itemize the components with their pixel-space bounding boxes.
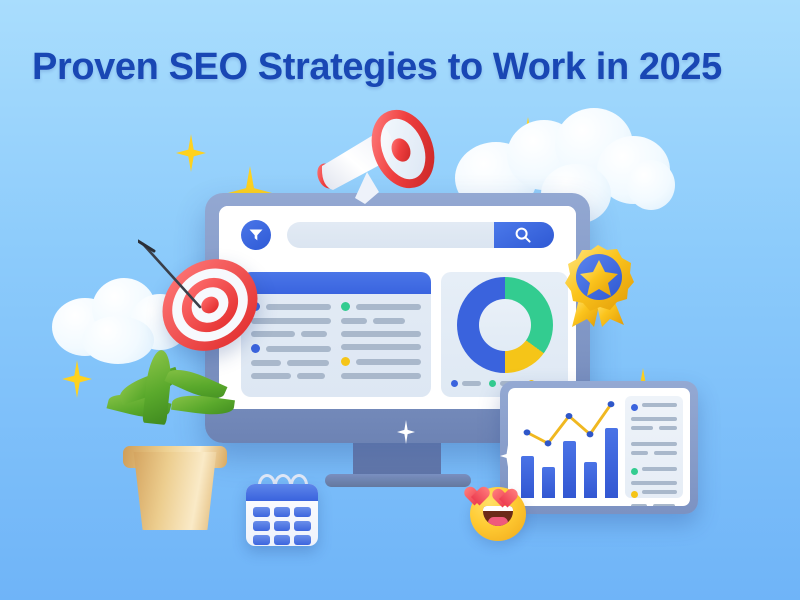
bullet-dot-icon xyxy=(631,491,638,498)
calendar-icon xyxy=(240,474,318,546)
list-column-left xyxy=(251,302,331,386)
illustration-canvas: Proven SEO Strategies to Work in 2025 xyxy=(0,0,800,600)
tablet-side-list xyxy=(625,396,683,498)
list-item xyxy=(631,490,677,499)
placeholder-line xyxy=(631,442,677,446)
placeholder-line xyxy=(631,426,653,430)
legend-dot-icon xyxy=(451,380,458,387)
megaphone-icon xyxy=(305,100,440,215)
placeholder-line-pair xyxy=(631,451,677,460)
placeholder-line xyxy=(653,504,675,506)
emoji-teeth xyxy=(483,506,513,511)
placeholder-line xyxy=(356,359,421,365)
calendar-day-cell xyxy=(253,521,270,531)
calendar-day-cell xyxy=(253,535,270,545)
placeholder-line xyxy=(373,318,405,324)
monitor-screen xyxy=(219,206,576,409)
bullet-dot-icon xyxy=(341,357,350,366)
plant-leaf xyxy=(171,392,235,418)
emoji-mouth xyxy=(483,506,513,526)
placeholder-line xyxy=(356,304,421,310)
bullet-dot-icon xyxy=(631,404,638,411)
tablet-bar-chart xyxy=(516,396,628,498)
list-item xyxy=(631,403,677,412)
list-item xyxy=(341,302,421,311)
monitor-stand-base xyxy=(325,474,471,487)
donut-chart xyxy=(457,277,553,373)
placeholder-line xyxy=(341,331,421,337)
placeholder-line xyxy=(631,451,648,455)
heart-eye-icon xyxy=(499,481,521,501)
chart-bar xyxy=(563,441,576,498)
arrow-icon xyxy=(138,239,248,349)
placeholder-line-pair xyxy=(251,331,331,337)
legend-item xyxy=(451,380,481,387)
calendar-day-cell xyxy=(253,507,270,517)
placeholder-line xyxy=(631,481,677,485)
placeholder-line xyxy=(341,344,421,350)
bullet-dot-icon xyxy=(631,468,638,475)
sparkle-star xyxy=(176,134,206,172)
list-item xyxy=(251,302,331,311)
chart-bar xyxy=(584,462,597,498)
card-header-bar xyxy=(241,272,431,294)
plant-pot xyxy=(130,452,220,530)
calendar-day-cell xyxy=(294,535,311,545)
placeholder-line xyxy=(287,360,329,366)
calendar-body xyxy=(246,484,318,546)
calendar-header xyxy=(246,484,318,501)
legend-dot-icon xyxy=(489,380,496,387)
target-dartboard-icon xyxy=(160,255,260,355)
results-list-card xyxy=(241,272,431,397)
placeholder-line xyxy=(266,346,331,352)
calendar-day-cell xyxy=(294,521,311,531)
heart-eyes-emoji xyxy=(466,477,532,541)
calendar-day-cell xyxy=(274,535,291,545)
placeholder-line-pair xyxy=(341,318,421,324)
page-title: Proven SEO Strategies to Work in 2025 xyxy=(32,46,772,89)
potted-plant-icon xyxy=(112,352,240,530)
cloud-puff xyxy=(627,160,675,210)
donut-hole xyxy=(479,299,531,351)
donut-chart-card xyxy=(441,272,568,397)
placeholder-line xyxy=(642,467,677,471)
placeholder-line xyxy=(659,426,677,430)
search-button[interactable] xyxy=(494,222,554,248)
list-item xyxy=(631,467,677,476)
plant-leaf xyxy=(142,349,174,425)
calendar-day-cell xyxy=(274,521,291,531)
placeholder-line xyxy=(631,504,647,506)
bullet-dot-icon xyxy=(341,302,350,311)
placeholder-line xyxy=(251,360,281,366)
placeholder-line xyxy=(266,304,331,310)
list-item xyxy=(251,344,331,353)
chart-bar xyxy=(542,467,555,498)
calendar-day-cell xyxy=(274,507,291,517)
emoji-tongue xyxy=(488,517,508,526)
chart-bar xyxy=(605,428,618,498)
placeholder-line-pair xyxy=(631,426,677,435)
placeholder-line-pair xyxy=(631,504,677,506)
heart-eye-icon xyxy=(471,479,493,499)
search-input[interactable] xyxy=(287,222,554,248)
placeholder-line xyxy=(297,373,325,379)
send-glyph xyxy=(248,227,264,243)
calendar-grid xyxy=(246,501,318,546)
placeholder-line xyxy=(251,318,331,324)
search-icon xyxy=(514,226,532,244)
placeholder-line xyxy=(631,417,677,421)
placeholder-line xyxy=(642,403,677,407)
placeholder-line xyxy=(251,373,291,379)
placeholder-line xyxy=(341,373,421,379)
list-column-right xyxy=(341,302,421,386)
tablet-screen xyxy=(508,388,690,506)
award-badge-icon xyxy=(560,243,636,329)
placeholder-line-pair xyxy=(251,360,331,366)
placeholder-line-pair xyxy=(251,373,331,379)
list-item xyxy=(341,357,421,366)
placeholder-line xyxy=(341,318,367,324)
legend-label-placeholder xyxy=(462,381,481,386)
calendar-day-cell xyxy=(294,507,311,517)
placeholder-line xyxy=(642,490,677,494)
placeholder-line xyxy=(301,331,327,337)
placeholder-line xyxy=(654,451,677,455)
